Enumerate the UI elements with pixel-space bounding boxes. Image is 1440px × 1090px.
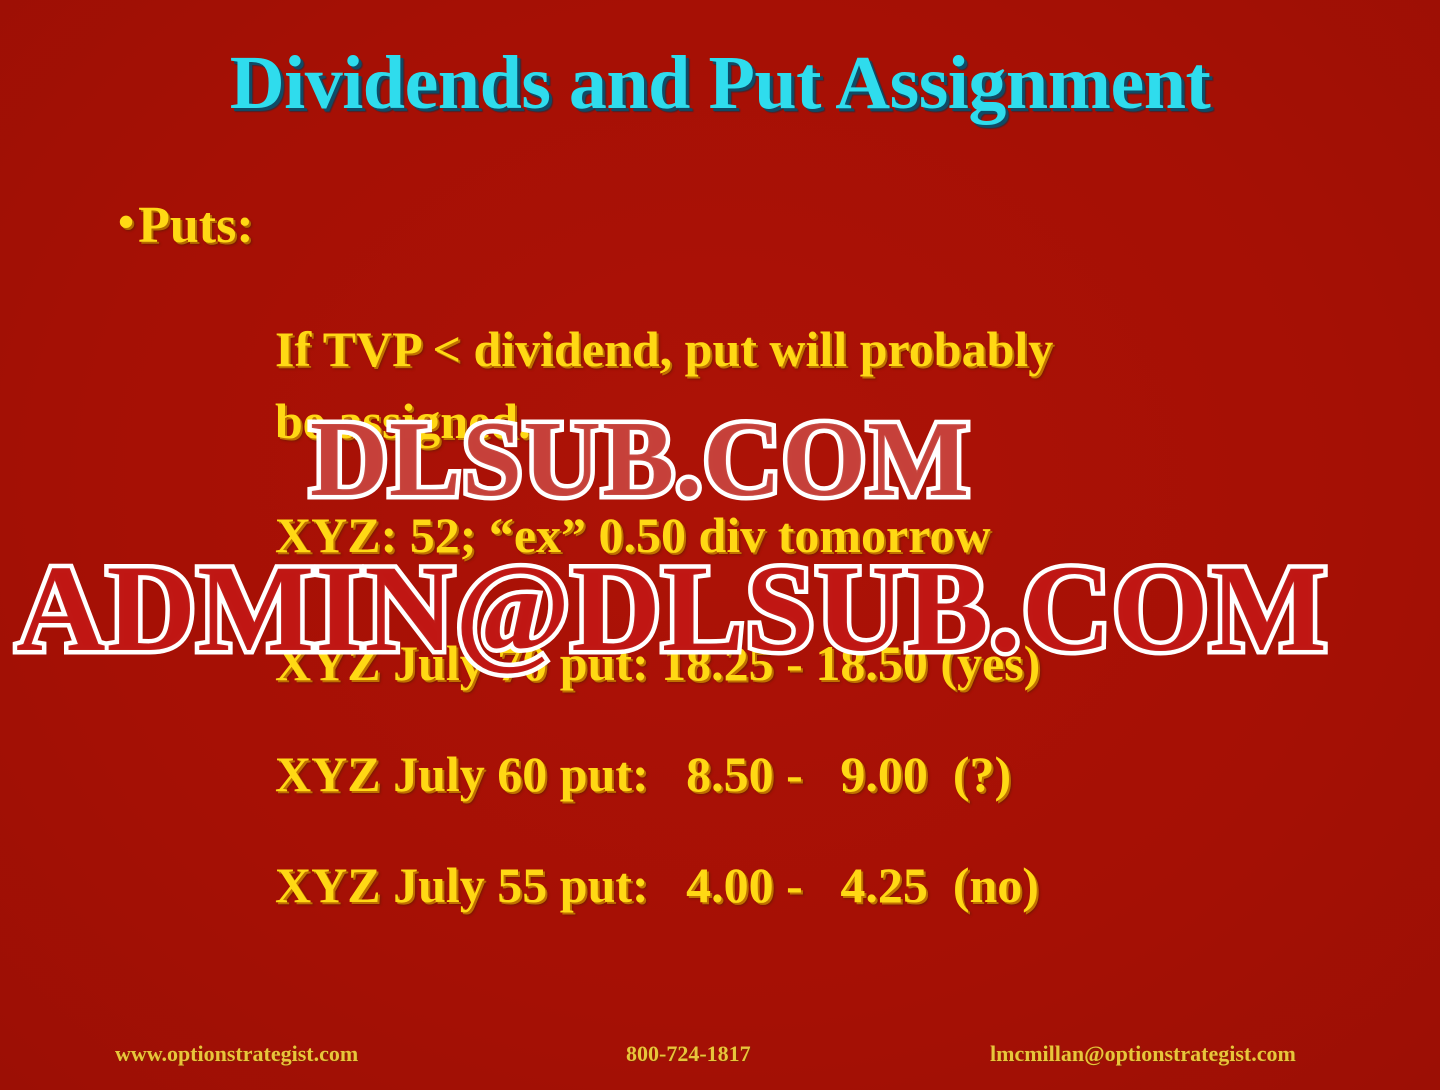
page-title: Dividends and Put Assignment xyxy=(0,44,1440,124)
body-line-1: If TVP < dividend, put will probably xyxy=(275,320,1053,378)
body-line-3: XYZ: 52; “ex” 0.50 div tomorrow xyxy=(275,506,991,564)
body-line-4: XYZ July 70 put: 18.25 - 18.50 (yes) xyxy=(275,634,1040,692)
body-line-6: XYZ July 55 put: 4.00 - 4.25 (no) xyxy=(275,856,1039,914)
footer-website: www.optionstrategist.com xyxy=(115,1041,358,1067)
bullet-label: Puts: xyxy=(138,196,254,255)
body-line-2: be assigned. xyxy=(275,392,531,450)
bullet-puts: • Puts: xyxy=(118,196,254,255)
footer-phone: 800-724-1817 xyxy=(626,1041,751,1067)
slide-canvas: Dividends and Put Assignment • Puts: If … xyxy=(0,0,1440,1090)
bullet-marker-icon: • xyxy=(118,199,134,245)
body-line-5: XYZ July 60 put: 8.50 - 9.00 (?) xyxy=(275,745,1011,803)
footer-email: lmcmillan@optionstrategist.com xyxy=(990,1041,1296,1067)
